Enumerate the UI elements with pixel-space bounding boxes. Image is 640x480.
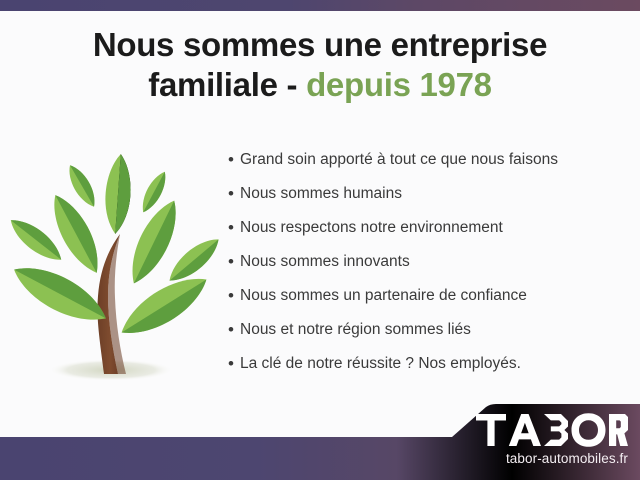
- brand-logo: tabor-automobiles.fr: [428, 412, 628, 466]
- bullet-marker-icon: •: [228, 182, 240, 206]
- list-item-label: Nous et notre région sommes liés: [240, 318, 471, 342]
- headline-line-2-prefix: familiale -: [148, 66, 306, 103]
- top-accent-bar: [0, 0, 640, 11]
- list-item: • Nous et notre région sommes liés: [228, 318, 628, 352]
- bullet-marker-icon: •: [228, 318, 240, 342]
- tree-trunk: [97, 234, 126, 374]
- list-item: • La clé de notre réussite ? Nos employé…: [228, 352, 628, 386]
- list-item-label: Grand soin apporté à tout ce que nous fa…: [240, 148, 558, 172]
- bullet-marker-icon: •: [228, 284, 240, 308]
- bullet-marker-icon: •: [228, 250, 240, 274]
- leaf-lower-left: [8, 255, 114, 333]
- headline-line-2: familiale - depuis 1978: [0, 66, 640, 104]
- list-item: • Nous sommes un partenaire de confiance: [228, 284, 628, 318]
- page-title: Nous sommes une entreprise familiale - d…: [0, 26, 640, 105]
- headline-line-1: Nous sommes une entreprise: [0, 26, 640, 64]
- leaf-upper-left-small: [63, 161, 101, 210]
- list-item: • Grand soin apporté à tout ce que nous …: [228, 148, 628, 182]
- list-item-label: La clé de notre réussite ? Nos employés.: [240, 352, 521, 376]
- leaf-mid-left: [43, 189, 108, 279]
- list-item: • Nous sommes innovants: [228, 250, 628, 284]
- bullet-marker-icon: •: [228, 352, 240, 376]
- list-item-label: Nous sommes humains: [240, 182, 402, 206]
- leaf-top-center: [103, 153, 133, 235]
- headline-accent-since-1978: depuis 1978: [306, 66, 492, 103]
- brand-tagline: tabor-automobiles.fr: [428, 451, 628, 466]
- list-item-label: Nous sommes innovants: [240, 250, 410, 274]
- list-item: • Nous sommes humains: [228, 182, 628, 216]
- bullet-marker-icon: •: [228, 148, 240, 172]
- bullet-marker-icon: •: [228, 216, 240, 240]
- leaf-lower-right: [113, 266, 215, 346]
- value-proposition-list: • Grand soin apporté à tout ce que nous …: [228, 148, 628, 386]
- tabor-wordmark: [428, 412, 628, 448]
- family-tree-illustration: [8, 142, 220, 394]
- list-item-label: Nous sommes un partenaire de confiance: [240, 284, 527, 308]
- list-item-label: Nous respectons notre environnement: [240, 216, 503, 240]
- list-item: • Nous respectons notre environnement: [228, 216, 628, 250]
- slide-canvas: Nous sommes une entreprise familiale - d…: [0, 0, 640, 480]
